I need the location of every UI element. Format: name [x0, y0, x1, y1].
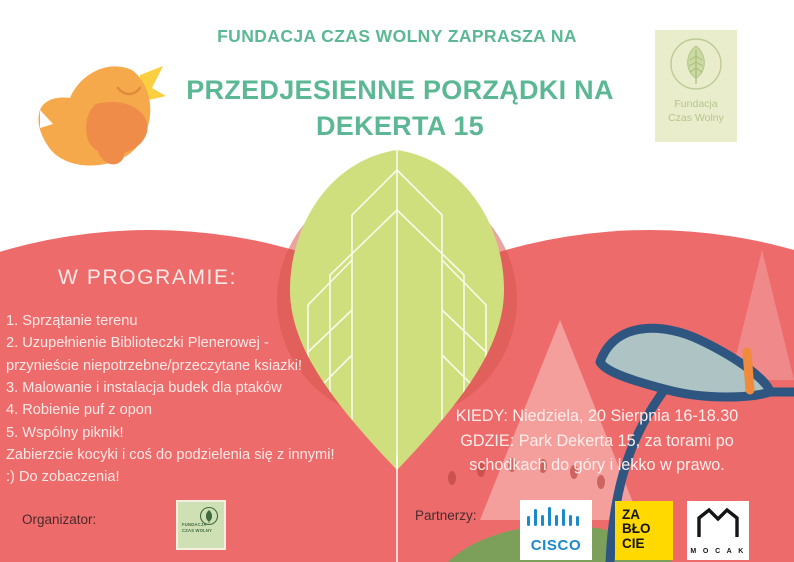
header-kicker: FUNDACJA CZAS WOLNY ZAPRASZA NA	[0, 26, 794, 47]
list-item: Zabierzcie kocyki i coś do podzielenia s…	[6, 444, 386, 466]
program-heading: W PROGRAMIE:	[58, 266, 237, 290]
organizer-label: Organizator:	[22, 512, 96, 527]
title-line-1: PRZEDJESIENNE PORZĄDKI NA	[150, 72, 650, 108]
zablocie-wordmark: ZA BŁO CIE	[622, 508, 651, 551]
list-item: 2. Uzupełnienie Biblioteczki Plenerowej …	[6, 332, 386, 354]
cisco-wordmark: CISCO	[520, 537, 592, 554]
list-item: 3. Malowanie i instalacja budek dla ptak…	[6, 377, 386, 399]
list-item: 1. Sprzątanie terenu	[6, 310, 386, 332]
cisco-logo: CISCO	[520, 500, 592, 560]
fundacja-czas-wolny-small-logo: FUNDACJA CZAS WOLNY	[176, 500, 226, 550]
mocak-roof-icon	[687, 501, 749, 541]
poster-canvas: Fundacja Czas Wolny FUNDACJA CZAS WOLNY …	[0, 0, 794, 562]
title-line-2: DEKERTA 15	[150, 108, 650, 144]
event-info: KIEDY: Niedziela, 20 Sierpnia 16-18.30 G…	[400, 404, 794, 478]
event-when: KIEDY: Niedziela, 20 Sierpnia 16-18.30	[400, 404, 794, 429]
fundacja-logo-text: Fundacja Czas Wolny	[655, 98, 737, 126]
event-where-line-1: GDZIE: Park Dekerta 15, za torami po	[400, 429, 794, 454]
cisco-bars-icon	[520, 500, 592, 534]
event-where-line-2: schodkach do góry i lekko w prawo.	[400, 453, 794, 478]
zablocie-logo: ZA BŁO CIE	[615, 501, 673, 560]
organizer-logo-text: FUNDACJA CZAS WOLNY	[182, 522, 212, 533]
partners-label: Partnerzy:	[415, 508, 477, 523]
list-item: 5. Wspólny piknik!	[6, 422, 386, 444]
page-title: PRZEDJESIENNE PORZĄDKI NA DEKERTA 15	[150, 72, 650, 145]
program-list: 1. Sprzątanie terenu 2. Uzupełnienie Bib…	[6, 310, 386, 489]
list-item: 4. Robienie puf z opon	[6, 399, 386, 421]
mocak-logo: M O C A K	[687, 501, 749, 560]
list-item: :) Do zobaczenia!	[6, 466, 386, 488]
list-item: przynieście niepotrzebne/przeczytane ksi…	[6, 355, 386, 377]
mocak-wordmark: M O C A K	[687, 548, 749, 555]
